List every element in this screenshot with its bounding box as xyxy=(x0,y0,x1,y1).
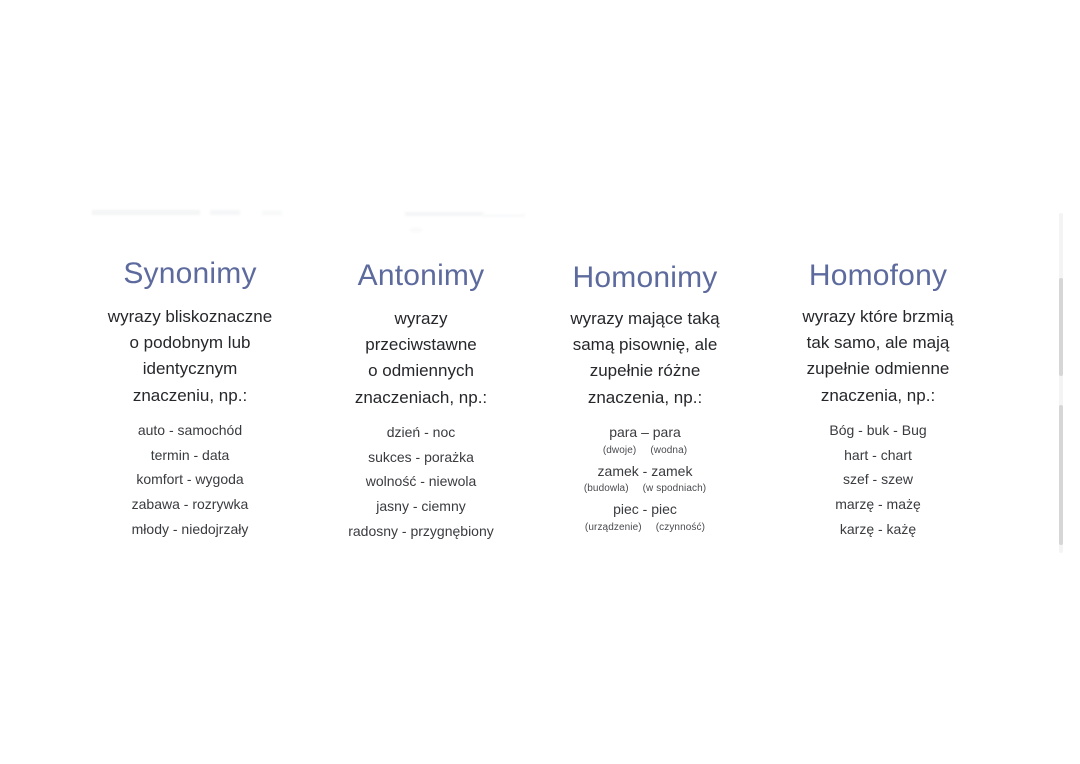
example-pair: szef - szew xyxy=(758,468,998,491)
gloss-right: (wodna) xyxy=(650,445,687,456)
example-pair: termin - data xyxy=(78,444,302,467)
definition-line: tak samo, ale mają xyxy=(758,330,998,356)
example-pair: zabawa - rozrywka xyxy=(78,493,302,516)
cropped-text-artifact xyxy=(405,212,483,216)
example-gloss: (budowla)(w spodniach) xyxy=(532,481,758,496)
definition-line: samą pisownię, ale xyxy=(532,332,758,358)
gloss-left: (budowla) xyxy=(584,483,629,494)
column-examples-homofony: Bóg - buk - Bug hart - chart szef - szew… xyxy=(758,419,998,540)
example-text: szef - szew xyxy=(758,468,998,491)
example-pair: dzień - noc xyxy=(310,421,532,444)
example-pair: piec - piec (urządzenie)(czynność) xyxy=(532,498,758,535)
column-definition-homonimy: wyrazy mające taką samą pisownię, ale zu… xyxy=(532,306,758,411)
definition-columns: Synonimy wyrazy bliskoznaczne o podobnym… xyxy=(78,258,1018,542)
example-pair: auto - samochód xyxy=(78,419,302,442)
definition-line: przeciwstawne xyxy=(310,332,532,358)
example-text: auto - samochód xyxy=(78,419,302,442)
vertical-scrollbar[interactable] xyxy=(1059,213,1063,553)
column-heading-antonimy: Antonimy xyxy=(310,260,532,292)
definition-line: wyrazy mające taką xyxy=(532,306,758,332)
example-pair: komfort - wygoda xyxy=(78,468,302,491)
cropped-text-artifact xyxy=(210,210,240,215)
column-antonimy: Antonimy wyrazy przeciwstawne o odmienny… xyxy=(310,258,532,542)
column-heading-homonimy: Homonimy xyxy=(532,262,758,294)
definition-line: wyrazy xyxy=(310,306,532,332)
example-text: dzień - noc xyxy=(310,421,532,444)
example-pair: młody - niedojrzały xyxy=(78,518,302,541)
column-heading-synonimy: Synonimy xyxy=(78,258,302,290)
column-examples-homonimy: para – para (dwoje)(wodna) zamek - zamek… xyxy=(532,421,758,535)
example-text: hart - chart xyxy=(758,444,998,467)
example-pair: marzę - mażę xyxy=(758,493,998,516)
definition-line: znaczenia, np.: xyxy=(532,385,758,411)
column-examples-antonimy: dzień - noc sukces - porażka wolność - n… xyxy=(310,421,532,542)
example-text: zamek - zamek xyxy=(532,460,758,483)
example-text: jasny - ciemny xyxy=(310,495,532,518)
gloss-right: (czynność) xyxy=(656,522,705,533)
slide-canvas: Synonimy wyrazy bliskoznaczne o podobnym… xyxy=(0,0,1080,764)
example-pair: karzę - każę xyxy=(758,518,998,541)
column-homonimy: Homonimy wyrazy mające taką samą pisowni… xyxy=(532,258,758,535)
cropped-text-artifact xyxy=(92,210,200,215)
definition-line: o podobnym lub xyxy=(78,330,302,356)
scrollbar-thumb-upper[interactable] xyxy=(1059,278,1063,376)
definition-line: wyrazy które brzmią xyxy=(758,304,998,330)
definition-line: wyrazy bliskoznaczne xyxy=(78,304,302,330)
example-pair: wolność - niewola xyxy=(310,470,532,493)
example-text: komfort - wygoda xyxy=(78,468,302,491)
gloss-left: (dwoje) xyxy=(603,445,637,456)
example-text: Bóg - buk - Bug xyxy=(758,419,998,442)
example-pair: Bóg - buk - Bug xyxy=(758,419,998,442)
definition-line: znaczeniu, np.: xyxy=(78,383,302,409)
column-homofony: Homofony wyrazy które brzmią tak samo, a… xyxy=(758,258,998,540)
cropped-text-artifact xyxy=(262,211,282,215)
example-text: karzę - każę xyxy=(758,518,998,541)
example-text: para – para xyxy=(532,421,758,444)
example-text: radosny - przygnębiony xyxy=(310,520,532,543)
definition-line: o odmiennych xyxy=(310,358,532,384)
scrollbar-thumb-lower[interactable] xyxy=(1059,405,1063,545)
definition-line: zupełnie odmienne xyxy=(758,356,998,382)
example-text: zabawa - rozrywka xyxy=(78,493,302,516)
definition-line: znaczenia, np.: xyxy=(758,383,998,409)
example-text: sukces - porażka xyxy=(310,446,532,469)
column-definition-antonimy: wyrazy przeciwstawne o odmiennych znacze… xyxy=(310,306,532,411)
column-synonimy: Synonimy wyrazy bliskoznaczne o podobnym… xyxy=(78,258,310,540)
cropped-text-artifact xyxy=(410,228,422,232)
cropped-text-artifact xyxy=(483,214,525,217)
example-gloss: (urządzenie)(czynność) xyxy=(532,520,758,535)
example-pair: radosny - przygnębiony xyxy=(310,520,532,543)
column-definition-synonimy: wyrazy bliskoznaczne o podobnym lub iden… xyxy=(78,304,302,409)
example-text: termin - data xyxy=(78,444,302,467)
example-pair: zamek - zamek (budowla)(w spodniach) xyxy=(532,460,758,497)
column-heading-homofony: Homofony xyxy=(758,260,998,292)
gloss-right: (w spodniach) xyxy=(643,483,707,494)
column-definition-homofony: wyrazy które brzmią tak samo, ale mają z… xyxy=(758,304,998,409)
example-pair: sukces - porażka xyxy=(310,446,532,469)
definition-line: identycznym xyxy=(78,356,302,382)
example-pair: hart - chart xyxy=(758,444,998,467)
example-gloss: (dwoje)(wodna) xyxy=(532,443,758,458)
column-examples-synonimy: auto - samochód termin - data komfort - … xyxy=(78,419,302,540)
example-pair: para – para (dwoje)(wodna) xyxy=(532,421,758,458)
example-text: piec - piec xyxy=(532,498,758,521)
definition-line: zupełnie różne xyxy=(532,358,758,384)
example-text: młody - niedojrzały xyxy=(78,518,302,541)
example-text: marzę - mażę xyxy=(758,493,998,516)
definition-line: znaczeniach, np.: xyxy=(310,385,532,411)
example-pair: jasny - ciemny xyxy=(310,495,532,518)
gloss-left: (urządzenie) xyxy=(585,522,642,533)
example-text: wolność - niewola xyxy=(310,470,532,493)
